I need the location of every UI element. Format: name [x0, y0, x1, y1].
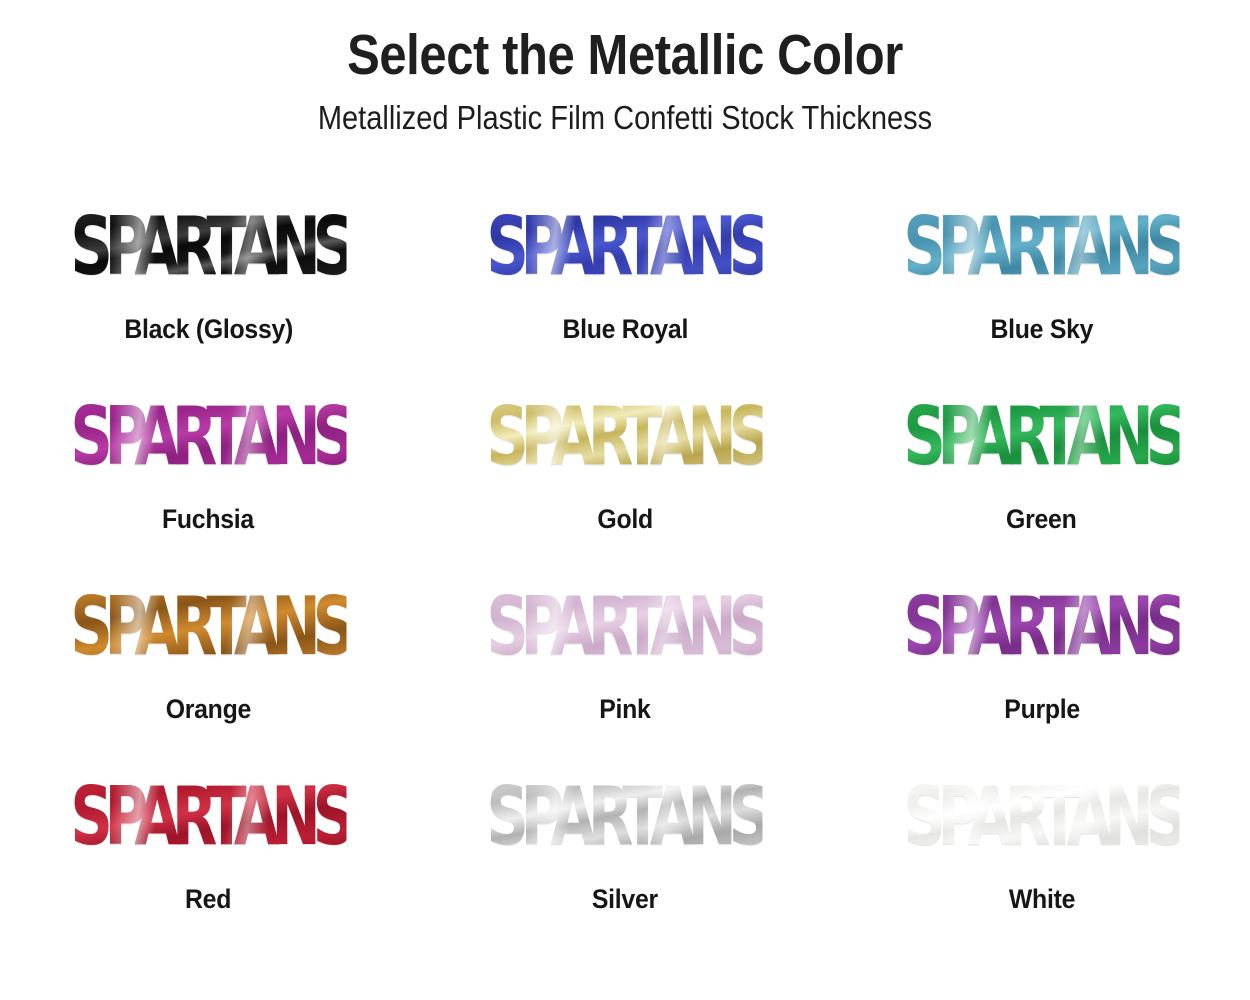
page-subtitle: Metallized Plastic Film Confetti Stock T… — [75, 100, 1175, 136]
swatch-label: Gold — [597, 504, 652, 535]
swatch-label: Black (Glossy) — [124, 314, 293, 345]
swatch-label: Silver — [592, 884, 658, 915]
color-swatch-orange[interactable]: SPARTANSSPARTANSOrange — [0, 572, 417, 762]
page-header: Select the Metallic Color Metallized Pla… — [0, 0, 1250, 136]
page-title: Select the Metallic Color — [88, 26, 1163, 86]
spartans-wordmark: SPARTANSSPARTANS — [487, 776, 764, 857]
gloss-streak: SPARTANS — [59, 776, 358, 857]
swatch-word-art: SPARTANSSPARTANS — [40, 192, 377, 300]
spartans-wordmark: SPARTANSSPARTANS — [70, 586, 347, 667]
swatch-word-art: SPARTANSSPARTANS — [40, 572, 377, 680]
swatch-label: Purple — [1004, 694, 1080, 725]
spartans-wordmark: SPARTANSSPARTANS — [903, 776, 1180, 857]
gloss-streak: SPARTANS — [476, 776, 775, 857]
swatch-word-art: SPARTANSSPARTANS — [873, 572, 1210, 680]
swatch-word-art: SPARTANSSPARTANS — [456, 762, 793, 870]
color-swatch-fuchsia[interactable]: SPARTANSSPARTANSFuchsia — [0, 382, 417, 572]
gloss-streak: SPARTANS — [892, 776, 1191, 857]
spartans-wordmark: SPARTANSSPARTANS — [487, 586, 764, 667]
spartans-wordmark: SPARTANSSPARTANS — [903, 586, 1180, 667]
color-swatch-pink[interactable]: SPARTANSSPARTANSPink — [417, 572, 834, 762]
gloss-streak: SPARTANS — [892, 586, 1191, 667]
color-selection-page: Select the Metallic Color Metallized Pla… — [0, 0, 1250, 1000]
spartans-wordmark: SPARTANSSPARTANS — [70, 396, 347, 477]
gloss-streak: SPARTANS — [59, 206, 358, 287]
swatch-word-art: SPARTANSSPARTANS — [456, 192, 793, 300]
spartans-wordmark: SPARTANSSPARTANS — [487, 396, 764, 477]
spartans-wordmark: SPARTANSSPARTANS — [70, 206, 347, 287]
gloss-streak: SPARTANS — [59, 586, 358, 667]
swatch-word-art: SPARTANSSPARTANS — [40, 762, 377, 870]
swatch-word-art: SPARTANSSPARTANS — [456, 572, 793, 680]
gloss-streak: SPARTANS — [892, 396, 1191, 477]
color-swatch-purple[interactable]: SPARTANSSPARTANSPurple — [833, 572, 1250, 762]
color-swatch-silver[interactable]: SPARTANSSPARTANSSilver — [417, 762, 834, 952]
spartans-wordmark: SPARTANSSPARTANS — [903, 396, 1180, 477]
swatch-word-art: SPARTANSSPARTANS — [873, 762, 1210, 870]
spartans-wordmark: SPARTANSSPARTANS — [70, 776, 347, 857]
color-swatch-red[interactable]: SPARTANSSPARTANSRed — [0, 762, 417, 952]
swatch-label: Fuchsia — [162, 504, 254, 535]
swatch-word-art: SPARTANSSPARTANS — [40, 382, 377, 490]
color-swatch-black-glossy[interactable]: SPARTANSSPARTANSBlack (Glossy) — [0, 192, 417, 382]
gloss-streak: SPARTANS — [476, 396, 775, 477]
gloss-streak: SPARTANS — [476, 586, 775, 667]
gloss-streak: SPARTANS — [892, 206, 1191, 287]
swatch-label: Green — [1006, 504, 1076, 535]
color-swatch-white[interactable]: SPARTANSSPARTANSWhite — [833, 762, 1250, 952]
color-swatch-gold[interactable]: SPARTANSSPARTANSGold — [417, 382, 834, 572]
swatch-label: Blue Royal — [562, 314, 688, 345]
swatch-label: White — [1009, 884, 1075, 915]
gloss-streak: SPARTANS — [476, 206, 775, 287]
spartans-wordmark: SPARTANSSPARTANS — [903, 206, 1180, 287]
swatch-word-art: SPARTANSSPARTANS — [456, 382, 793, 490]
color-swatch-blue-sky[interactable]: SPARTANSSPARTANSBlue Sky — [833, 192, 1250, 382]
swatch-label: Pink — [599, 694, 650, 725]
swatch-word-art: SPARTANSSPARTANS — [873, 382, 1210, 490]
swatch-label: Blue Sky — [990, 314, 1093, 345]
swatch-word-art: SPARTANSSPARTANS — [873, 192, 1210, 300]
spartans-wordmark: SPARTANSSPARTANS — [487, 206, 764, 287]
color-swatch-grid: SPARTANSSPARTANSBlack (Glossy)SPARTANSSP… — [0, 192, 1250, 952]
gloss-streak: SPARTANS — [59, 396, 358, 477]
swatch-label: Red — [185, 884, 231, 915]
swatch-label: Orange — [166, 694, 251, 725]
color-swatch-blue-royal[interactable]: SPARTANSSPARTANSBlue Royal — [417, 192, 834, 382]
color-swatch-green[interactable]: SPARTANSSPARTANSGreen — [833, 382, 1250, 572]
